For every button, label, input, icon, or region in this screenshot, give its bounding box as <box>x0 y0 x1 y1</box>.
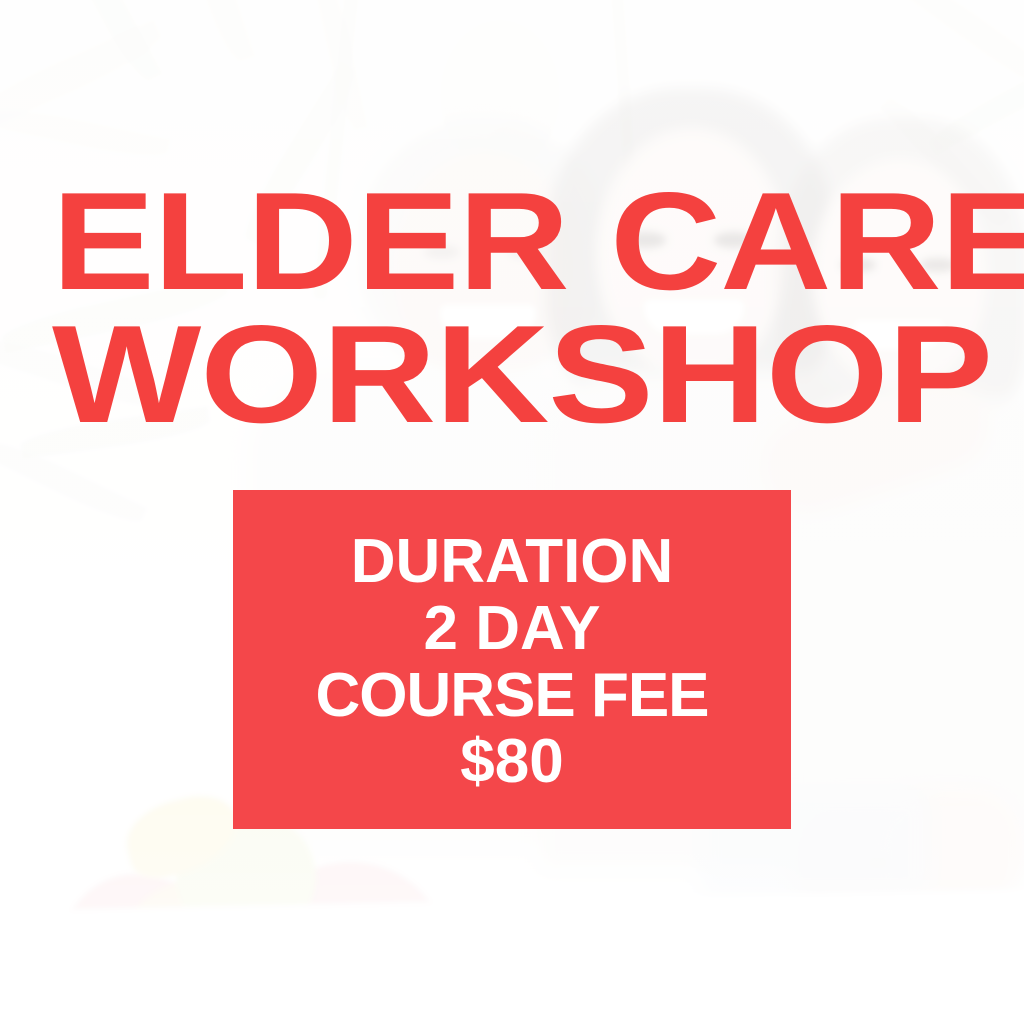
table-surface <box>0 888 1024 1024</box>
course-fee-label: COURSE FEE <box>315 663 708 730</box>
headline-line-1: ELDER CARE <box>52 176 1024 309</box>
poster-headline: ELDER CARE WORKSHOP <box>52 176 982 441</box>
course-fee-value: $80 <box>460 729 563 796</box>
headline-line-2: WORKSHOP <box>52 309 1024 442</box>
duration-value: 2 DAY <box>424 596 601 663</box>
duration-label: DURATION <box>351 529 674 596</box>
poster-canvas: ELDER CARE WORKSHOP DURATION 2 DAY COURS… <box>0 0 1024 1024</box>
course-info-box: DURATION 2 DAY COURSE FEE $80 <box>233 490 791 829</box>
